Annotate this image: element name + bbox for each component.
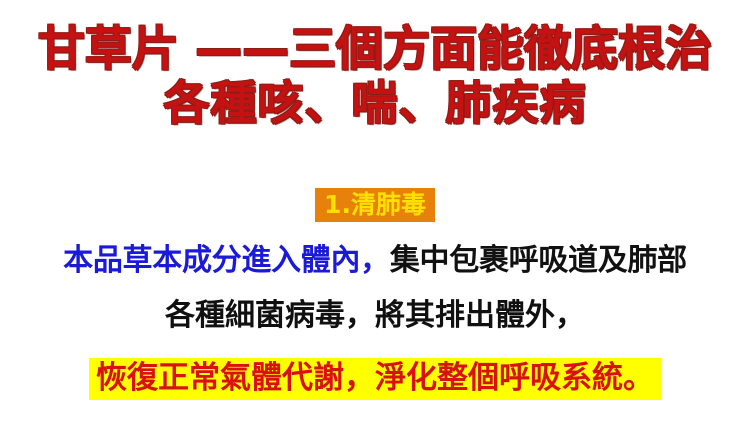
headline-line-2: 各種咳、喘、肺疾病	[0, 80, 750, 127]
body-line-1: 本品草本成分進入體內，集中包裹呼吸道及肺部	[0, 246, 750, 276]
highlighted-conclusion-text: 恢復正常氣體代謝，淨化整個呼吸系統。	[89, 358, 661, 400]
body-text-block: 本品草本成分進入體內，集中包裹呼吸道及肺部 各種細菌病毒，將其排出體外，	[0, 246, 750, 331]
body-line-1-black-segment: 集中包裹呼吸道及肺部	[390, 243, 687, 278]
body-line-1-blue-segment: 本品草本成分進入體內，	[63, 243, 390, 278]
body-line-2: 各種細菌病毒，將其排出體外，	[0, 301, 750, 331]
headline-block: 甘草片 ——三個方面能徹底根治 各種咳、喘、肺疾病	[0, 26, 750, 127]
headline-line-1: 甘草片 ——三個方面能徹底根治	[0, 26, 750, 74]
section-badge-row: 1.清肺毒	[0, 188, 750, 222]
status-badge: 1.清肺毒	[315, 188, 435, 222]
highlight-row: 恢復正常氣體代謝，淨化整個呼吸系統。	[0, 358, 750, 400]
promo-poster: 甘草片 ——三個方面能徹底根治 各種咳、喘、肺疾病 1.清肺毒 本品草本成分進入…	[0, 0, 750, 440]
